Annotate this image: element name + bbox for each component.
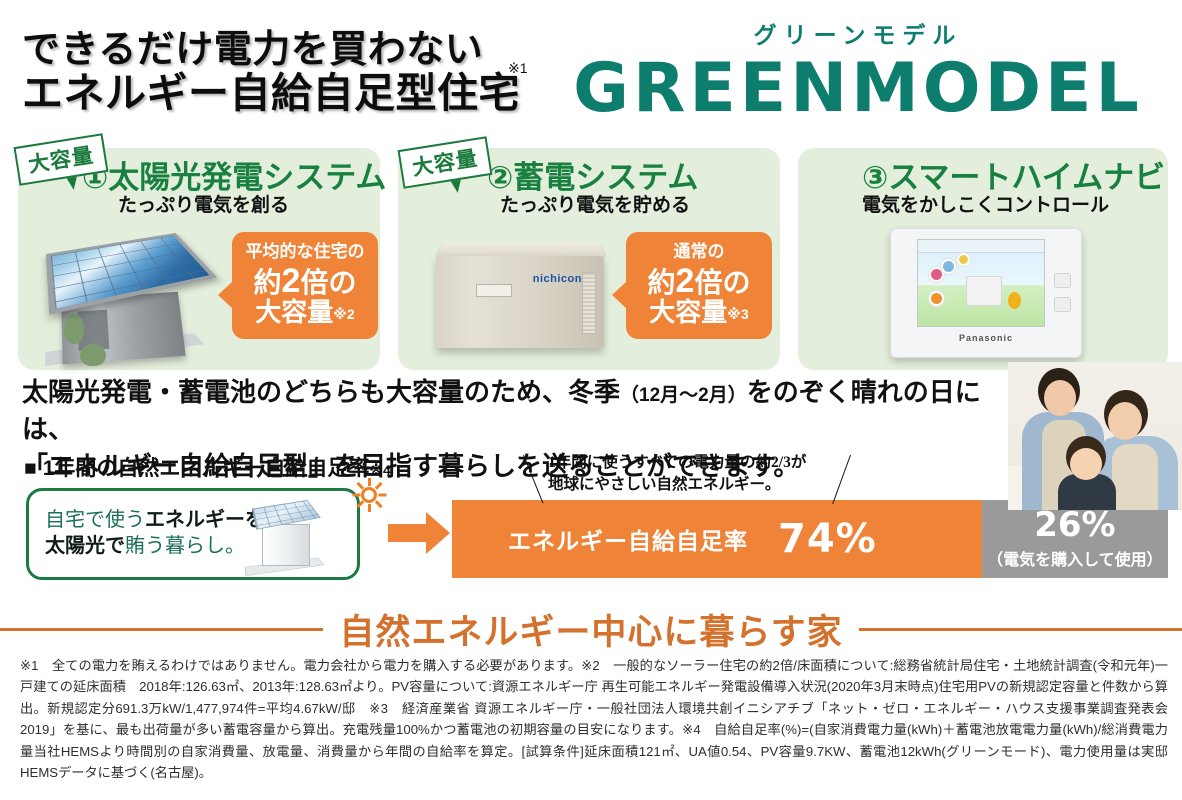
annotation-line-1: 1年間に使うすべての電力量の約2/3が [548, 454, 806, 471]
father-face [1044, 380, 1076, 416]
flow-arrow-icon [388, 512, 450, 554]
callout-battery-capacity: 通常の 約2倍の 大容量※3 [626, 232, 772, 339]
hems-coin-icon [1008, 292, 1021, 309]
hems-screen [917, 239, 1045, 327]
panel-1-subtitle: たっぷり電気を創る [118, 190, 289, 217]
sun-ray [353, 494, 361, 497]
annotation-line-2: 地球にやさしい自然エネルギー。 [548, 476, 780, 493]
callout-2-middle: 約2倍の [634, 262, 764, 300]
chart-annotation: 1年間に使うすべての電力量の約2/3が 地球にやさしい自然エネルギー。 [548, 452, 928, 496]
mini-house-body [262, 524, 310, 566]
advertisement-page: できるだけ電力を買わない エネルギー自給自足型住宅 ※1 グリーンモデル GRE… [0, 0, 1182, 800]
hems-house-graphic [966, 276, 1002, 306]
hems-indicator-icon [931, 269, 942, 280]
mother-face [1108, 402, 1142, 440]
logo-wordmark: GREENMODEL [548, 53, 1168, 124]
bar-segment-renewable: エネルギー自給自足率 74% [452, 500, 982, 578]
bar-gray-value: 26% [1034, 508, 1115, 542]
callout-arrow-1-icon [218, 282, 232, 308]
hems-brand-label: Panasonic [891, 333, 1081, 343]
callout-arrow-2-icon [612, 282, 626, 308]
hems-hardware-button-1 [1054, 273, 1071, 288]
battery-brand-label: nichicon [533, 273, 582, 285]
battery-vent-icon [582, 272, 596, 334]
mini-solar-house-icon [232, 490, 336, 582]
callout-2-bottom: 大容量※3 [634, 298, 764, 327]
child-face [1070, 448, 1102, 480]
logo-kana-text: グリーンモデル [548, 24, 1168, 47]
mother-apron [1112, 444, 1158, 510]
footnotes-text: ※1 全ての電力を賄えるわけではありません。電力会社から電力を購入する必要があり… [20, 655, 1168, 783]
self-sufficiency-bar-chart: エネルギー自給自足率 74% 26% （電気を購入して使用） [452, 500, 1168, 578]
family-photo [1008, 362, 1182, 510]
page-headline: できるだけ電力を買わない エネルギー自給自足型住宅 [22, 30, 542, 116]
hems-display-photo: Panasonic [890, 228, 1082, 358]
hems-hardware-button-2 [1054, 297, 1071, 312]
callout-1-top: 平均的な住宅の [240, 242, 370, 261]
battery-front-face: nichicon [436, 256, 604, 348]
headline-footnote-marker: ※1 [508, 60, 528, 77]
callout-1-middle: 約2倍の [240, 262, 370, 300]
hems-indicator-icon [943, 261, 954, 272]
arrow-shaft [388, 524, 428, 542]
sun-ray [375, 500, 383, 508]
headline-line-2: エネルギー自給自足型住宅 [22, 72, 542, 115]
bar-segment-label: エネルギー自給自足率 [508, 522, 748, 556]
greenmodel-logo: グリーンモデル GREENMODEL [548, 24, 1168, 124]
hems-status-bar [918, 240, 1044, 253]
battery-top-face [437, 242, 605, 256]
tagline-rule-left [0, 628, 323, 631]
tagline-rule-right [859, 628, 1182, 631]
shrub-icon [80, 344, 106, 366]
callout-solar-capacity: 平均的な住宅の 約2倍の 大容量※2 [232, 232, 378, 339]
panel-2-subtitle: たっぷり電気を貯める [500, 190, 690, 217]
callout-2-top: 通常の [634, 242, 764, 261]
bar-segment-purchased: 26% （電気を購入して使用） [982, 500, 1168, 578]
battery-unit-photo: nichicon [432, 236, 610, 352]
description-line-1-a: 太陽光発電・蓄電池のどちらも大容量のため、冬季 [22, 377, 620, 407]
bar-segment-value: 74% [778, 516, 877, 562]
sun-ray [356, 500, 364, 508]
tagline-text: 自然エネルギー中心に暮らす家 [339, 604, 842, 655]
hems-frame: Panasonic [890, 228, 1082, 358]
callout-1-bottom: 大容量※2 [240, 298, 370, 327]
panel-3-subtitle: 電気をかしこくコントロール [862, 190, 1109, 217]
sun-core [361, 487, 377, 503]
shrub-icon [64, 314, 84, 344]
tagline-row: 自然エネルギー中心に暮らす家 [0, 604, 1182, 655]
solar-panel-photo [36, 218, 226, 366]
arrow-head [426, 512, 450, 554]
hems-indicator-icon [959, 255, 968, 264]
description-line-1-small: （12月〜2月） [620, 385, 747, 406]
hems-indicator-icon [931, 293, 942, 304]
bar-gray-caption: （電気を購入して使用） [987, 546, 1163, 570]
sun-ray [379, 494, 387, 497]
headline-line-1: できるだけ電力を買わない [22, 30, 542, 70]
battery-spec-label [476, 284, 512, 297]
sun-ray [368, 504, 371, 512]
